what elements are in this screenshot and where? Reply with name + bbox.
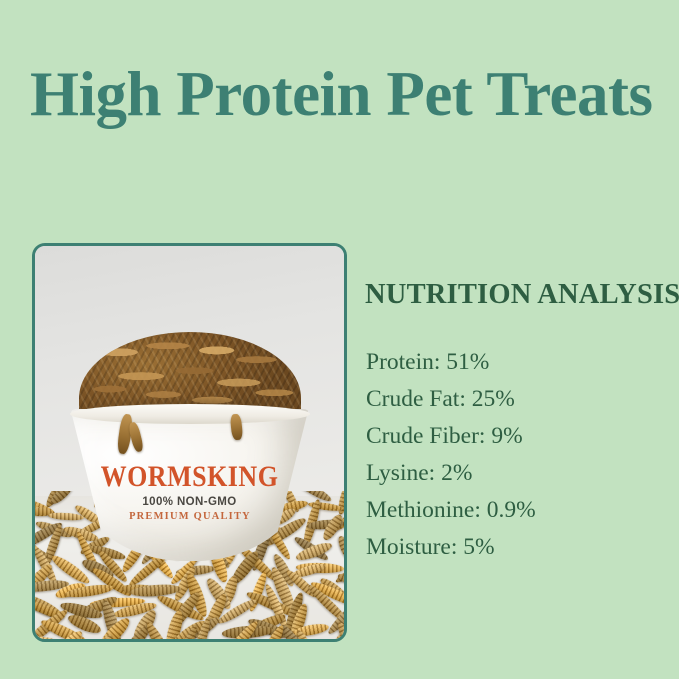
product-image-frame: WORMSKING 100% NON-GMO PREMIUM QUALITY xyxy=(32,243,347,642)
nutrition-item: Crude Fat: 25% xyxy=(366,388,536,425)
nutrition-item: Moisture: 5% xyxy=(366,536,536,573)
mealworm xyxy=(336,534,344,564)
nutrition-analysis-heading: NUTRITION ANALYSIS xyxy=(365,279,679,311)
mealworm xyxy=(336,491,344,515)
page-title: High Protein Pet Treats xyxy=(30,62,670,126)
nutrition-item: Crude Fiber: 9% xyxy=(366,425,536,462)
nutrition-item: Lysine: 2% xyxy=(366,462,536,499)
product-infographic: High Protein Pet Treats WORMSKING 100% N… xyxy=(0,0,679,679)
nutrition-item: Methionine: 0.9% xyxy=(366,499,536,536)
bowl-rim xyxy=(70,404,310,424)
product-photo: WORMSKING 100% NON-GMO PREMIUM QUALITY xyxy=(35,246,344,639)
nutrition-item: Protein: 51% xyxy=(366,351,536,388)
nutrition-list: Protein: 51%Crude Fat: 25%Crude Fiber: 9… xyxy=(366,351,536,573)
